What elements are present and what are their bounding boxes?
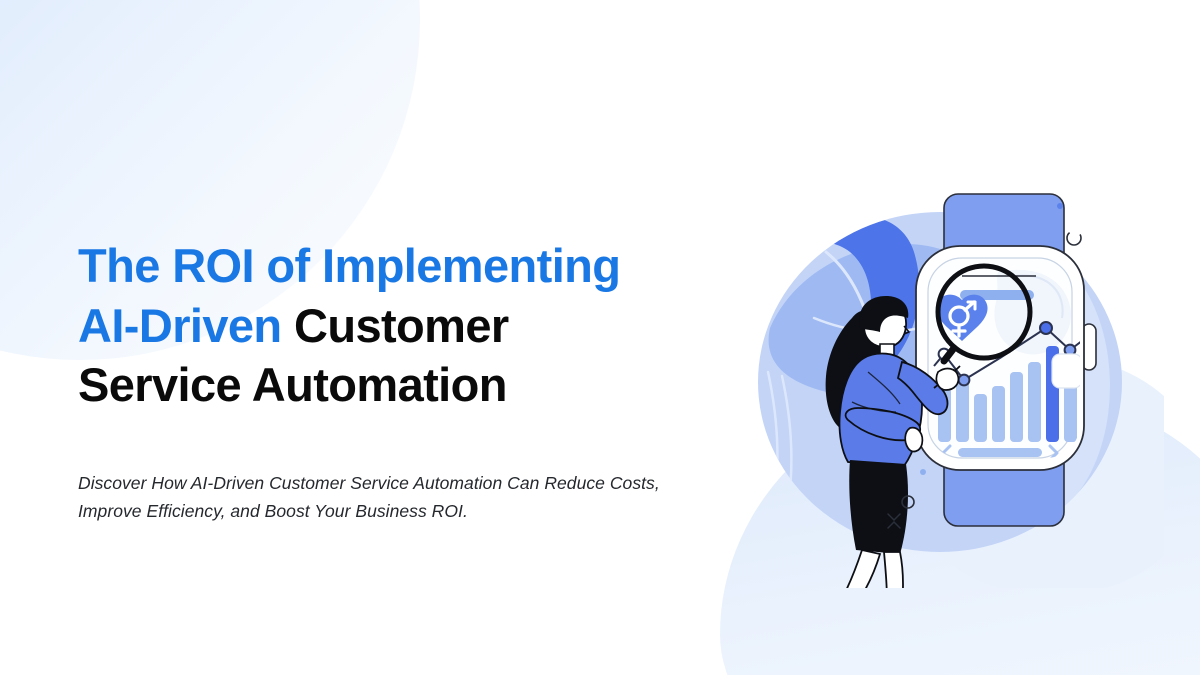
screen-overlay-card — [1052, 354, 1082, 388]
headline-line-2-dark: Customer — [282, 299, 509, 352]
leg-back — [840, 550, 880, 588]
bar-6 — [1028, 362, 1041, 442]
headline-line-1: The ROI of Implementing — [78, 239, 620, 292]
bar-3 — [974, 394, 987, 442]
page-title: The ROI of Implementing AI-Driven Custom… — [78, 236, 768, 415]
hand — [936, 369, 958, 390]
hand-lower — [905, 428, 922, 452]
sparkle-dot-2 — [1057, 203, 1063, 209]
hero-text-block: The ROI of Implementing AI-Driven Custom… — [78, 236, 768, 415]
sparkle-arc — [1067, 231, 1081, 245]
bar-4 — [992, 386, 1005, 442]
headline-line-2-accent: AI-Driven — [78, 299, 282, 352]
bar-2 — [956, 380, 969, 442]
slider-track[interactable] — [958, 448, 1042, 457]
illustration-svg — [752, 176, 1164, 588]
trend-point-2 — [959, 375, 970, 386]
leg-front — [884, 552, 903, 588]
skirt — [849, 460, 908, 554]
bar-5 — [1010, 372, 1023, 442]
sparkle-dot — [920, 469, 926, 475]
headline-line-3: Service Automation — [78, 358, 507, 411]
trend-point-3 — [1040, 322, 1052, 334]
page-subtitle: Discover How AI-Driven Customer Service … — [78, 469, 688, 526]
banner-canvas: The ROI of Implementing AI-Driven Custom… — [0, 0, 1200, 675]
hero-illustration — [752, 176, 1164, 588]
